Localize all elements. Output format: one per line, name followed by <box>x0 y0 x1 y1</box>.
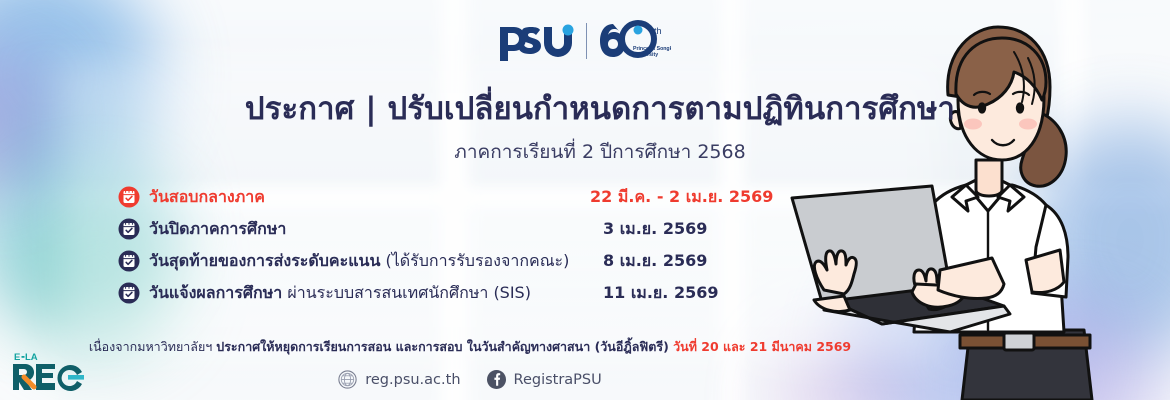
logo-divider <box>586 23 587 59</box>
footnote-strong: ประกาศให้หยุดการเรียนการสอน และการสอบ ใน… <box>216 339 673 354</box>
schedule-row-result-announcement: วันแจ้งผลการศึกษา ผ่านระบบสารสนเทศนักศึก… <box>118 277 818 309</box>
schedule-row-date: 3 เม.ย. 2569 <box>603 217 707 242</box>
footnote-date: วันที่ 20 และ 21 มีนาคม 2569 <box>673 339 851 354</box>
footnote-lead: เนื่องจากมหาวิทยาลัยฯ <box>89 339 216 354</box>
headline-block: ประกาศ | ปรับเปลี่ยนกำหนดการตามปฏิทินการ… <box>0 92 1170 167</box>
psu-logo: th Prince of Songkla University <box>498 20 671 62</box>
contact-facebook[interactable]: RegistraPSU <box>487 370 602 389</box>
psu-wordmark-icon <box>498 21 576 61</box>
globe-icon <box>338 370 357 389</box>
schedule-row-label: วันสอบกลางภาค <box>149 185 265 210</box>
anniversary-60th-icon: th Prince of Songkla University <box>597 20 671 62</box>
schedule-row-grade-submission: วันสุดท้ายของการส่งระดับคะแนน (ได้รับการ… <box>118 245 818 277</box>
footnote: เนื่องจากมหาวิทยาลัยฯ ประกาศให้หยุดการเร… <box>0 337 940 357</box>
calendar-check-icon <box>118 186 140 208</box>
contact-website-label: reg.psu.ac.th <box>365 372 460 388</box>
schedule-row-date: 8 เม.ย. 2569 <box>603 249 707 274</box>
reg-logo-top-text2: LA <box>25 352 38 363</box>
svg-text:th: th <box>654 26 662 36</box>
contact-bar: reg.psu.ac.th RegistraPSU <box>0 370 940 389</box>
announcement-banner: th Prince of Songkla University ประกาศ |… <box>0 0 1170 400</box>
calendar-check-icon <box>118 282 140 304</box>
reg-logo: E LA <box>10 348 86 392</box>
calendar-check-icon <box>118 250 140 272</box>
schedule-row-label: วันแจ้งผลการศึกษา ผ่านระบบสารสนเทศนักศึก… <box>149 281 531 306</box>
schedule-list: วันสอบกลางภาค 22 มี.ค. - 2 เม.ย. 2569 <box>118 181 818 309</box>
schedule-row-date: 11 เม.ย. 2569 <box>603 281 718 306</box>
facebook-icon <box>487 370 506 389</box>
calendar-check-icon <box>118 218 140 240</box>
schedule-row-date: 22 มี.ค. - 2 เม.ย. 2569 <box>590 185 773 210</box>
reg-logo-top-text: E <box>14 352 20 363</box>
anniversary-subtext-line2: University <box>633 52 658 58</box>
contact-website[interactable]: reg.psu.ac.th <box>338 370 460 389</box>
contact-facebook-label: RegistraPSU <box>514 372 602 388</box>
schedule-row-label: วันปิดภาคการศึกษา <box>149 217 286 242</box>
schedule-row-semester-close: วันปิดภาคการศึกษา 3 เม.ย. 2569 <box>118 213 818 245</box>
page-subtitle: ภาคการเรียนที่ 2 ปีการศึกษา 2568 <box>0 137 1170 167</box>
page-title: ประกาศ | ปรับเปลี่ยนกำหนดการตามปฏิทินการ… <box>0 92 1170 128</box>
schedule-row-label: วันสุดท้ายของการส่งระดับคะแนน (ได้รับการ… <box>149 249 569 274</box>
schedule-row-midterm-exam: วันสอบกลางภาค 22 มี.ค. - 2 เม.ย. 2569 <box>118 181 818 213</box>
